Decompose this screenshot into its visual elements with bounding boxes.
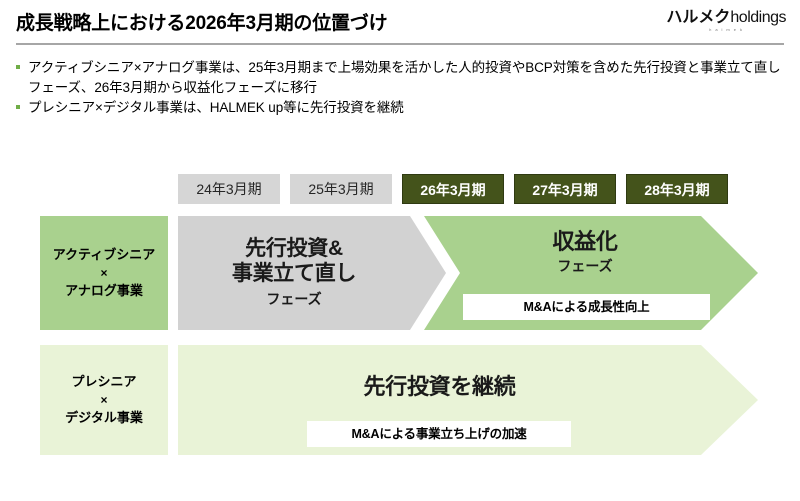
phase-block-monetization: 収益化 フェーズ M&Aによる成長性向上	[424, 216, 758, 330]
row-label-active-senior: アクティブシニア × アナログ事業	[40, 216, 168, 330]
row-label-cross: ×	[100, 391, 107, 409]
phase-subtitle: フェーズ	[266, 289, 321, 309]
phase-title: 収益化	[460, 230, 710, 254]
row-label-line2: アナログ事業	[65, 282, 143, 300]
callout-ma-growth: M&Aによる成長性向上	[463, 294, 710, 320]
row-label-line1: プレシニア	[71, 373, 136, 391]
phase-subtitle: フェーズ	[460, 256, 710, 276]
phase-title-line1: 先行投資&	[245, 237, 343, 262]
row-label-cross: ×	[100, 264, 107, 282]
row-label-line1: アクティブシニア	[53, 246, 156, 264]
phase-title: 先行投資を継続	[178, 369, 701, 401]
phase-title-line2: 事業立て直し	[232, 262, 356, 287]
phase-matrix: アクティブシニア × アナログ事業 先行投資& 事業立て直し フェーズ 収益化 …	[0, 0, 800, 501]
row-label-line2: デジタル事業	[65, 409, 143, 427]
phase-block-continued-investment: 先行投資を継続 M&Aによる事業立ち上げの加速	[178, 345, 758, 455]
row-label-pre-senior: プレシニア × デジタル事業	[40, 345, 168, 455]
phase-block-prior-investment-content: 先行投資& 事業立て直し フェーズ	[178, 216, 410, 330]
phase-block-prior-investment: 先行投資& 事業立て直し フェーズ	[178, 216, 446, 330]
phase-block-monetization-content: 収益化 フェーズ	[460, 230, 710, 276]
callout-ma-acceleration: M&Aによる事業立ち上げの加速	[307, 421, 571, 447]
